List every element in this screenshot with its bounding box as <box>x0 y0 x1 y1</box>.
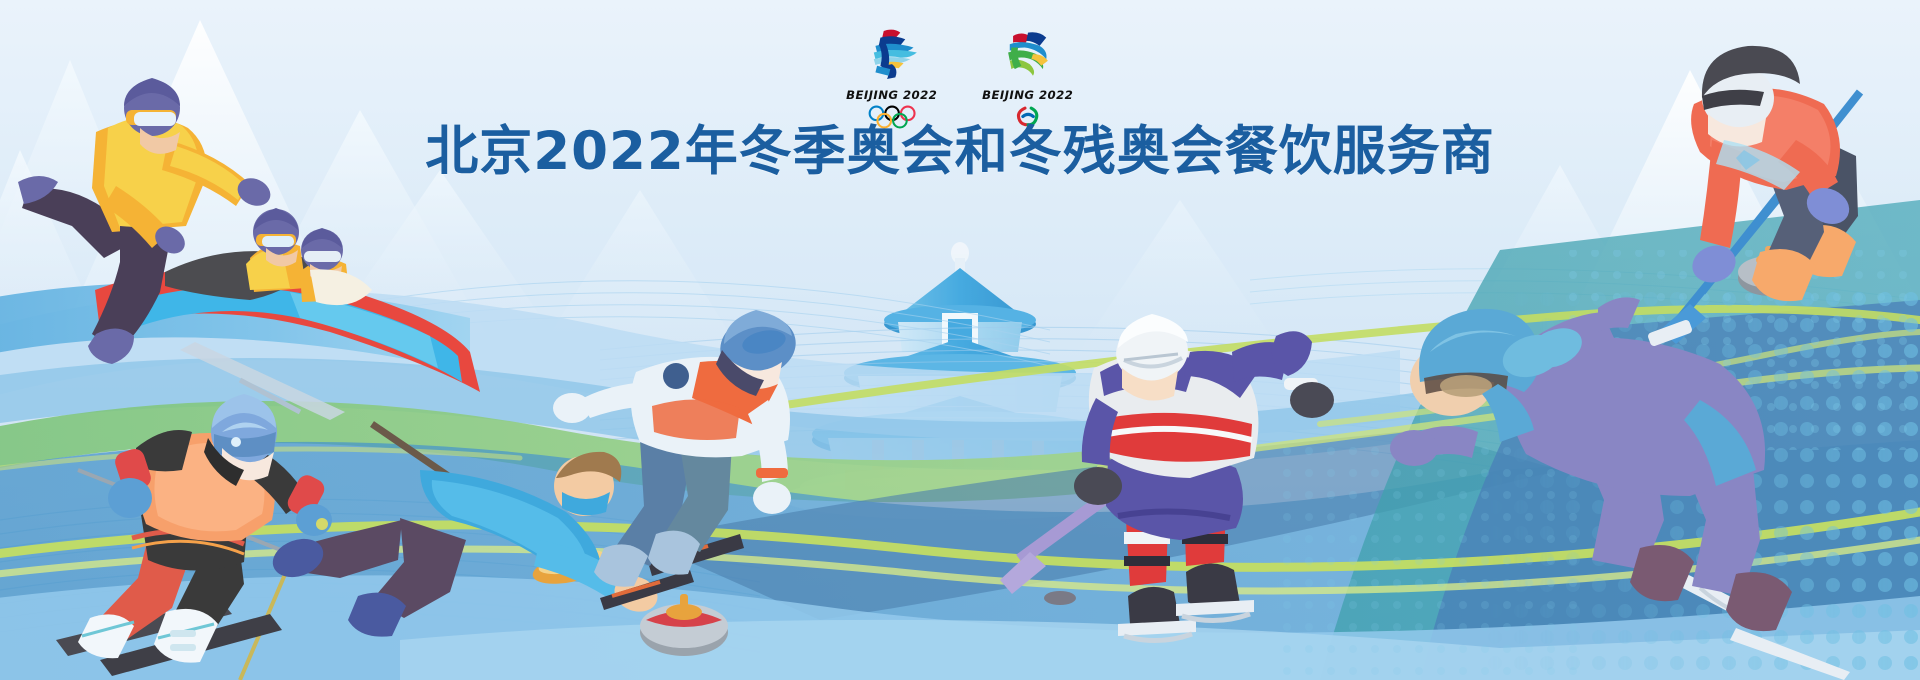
olympic-banner: BEIJING 2022 BEIJIN <box>0 0 1920 680</box>
olympic-emblem-block: BEIJING 2022 <box>846 26 938 129</box>
page-title: 北京2022年冬季奥会和冬残奥会餐饮服务商 <box>0 124 1920 180</box>
beijing-2022-paralympic-emblem-icon <box>994 26 1062 84</box>
olympic-wordmark: BEIJING 2022 <box>846 88 937 102</box>
athlete-ice-hockey <box>1000 314 1334 641</box>
athlete-cross-country-skier <box>56 394 332 680</box>
athlete-speed-skater <box>1390 297 1850 680</box>
paralympic-emblem-block: BEIJING 2022 <box>982 26 1074 129</box>
paralympic-wordmark: BEIJING 2022 <box>982 88 1073 102</box>
emblems-row: BEIJING 2022 BEIJIN <box>0 26 1920 129</box>
beijing-2022-olympic-emblem-icon <box>858 26 926 84</box>
